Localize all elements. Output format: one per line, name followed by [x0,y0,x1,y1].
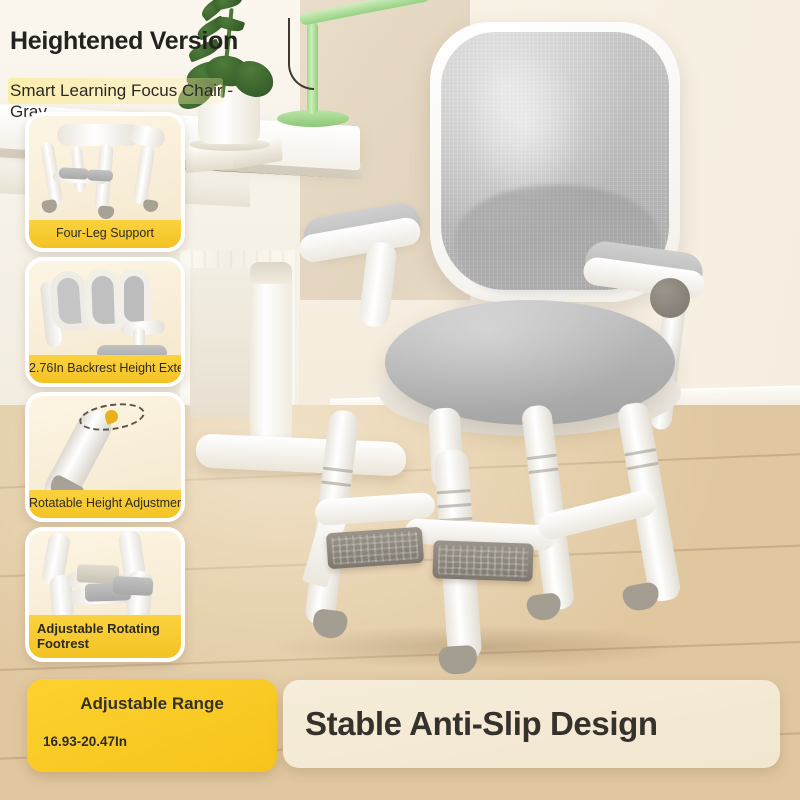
adjustable-range-title: Adjustable Range [27,694,277,714]
main-chair-product [255,10,725,690]
product-marketing-image: Heightened Version Smart Learning Focus … [0,0,800,800]
adjustable-range-banner: Adjustable Range 16.93-20.47In [27,679,277,772]
headline-banner: Stable Anti-Slip Design [283,680,780,768]
chair-foot-cap [438,645,478,676]
chair-foot-cap [621,581,661,613]
feature-card-label: 2.76In Backrest Height Extension [29,355,181,383]
chair-legs-icon: Four-Leg Support [29,116,181,248]
feature-card-label: Adjustable Rotating Footrest [29,615,181,658]
backrest-highlight [465,50,585,200]
chair-armrest-left-post [358,240,398,328]
feature-card-label: Rotatable Height Adjustment [29,490,181,518]
feature-card-backrest-extension[interactable]: 2.76In Backrest Height Extension [25,257,185,387]
feature-card-label: Four-Leg Support [29,220,181,248]
feature-card-rotating-footrest[interactable]: Adjustable Rotating Footrest [25,527,185,662]
footrest-pad-right [432,540,533,581]
page-title: Heightened Version [10,27,238,56]
rotating-tube-icon: Rotatable Height Adjustment [29,396,181,518]
footrest-icon: Adjustable Rotating Footrest [29,531,181,658]
chair-foot-cap [526,592,563,622]
feature-card-rotatable-height[interactable]: Rotatable Height Adjustment [25,392,185,522]
feature-card-four-leg-support[interactable]: Four-Leg Support [25,112,185,252]
backrest-extension-icon: 2.76In Backrest Height Extension [29,261,181,383]
chair-pivot-knob [650,278,690,318]
headline-text: Stable Anti-Slip Design [305,705,658,743]
footrest-pad-left [326,527,424,570]
adjustable-range-value: 16.93-20.47In [43,734,127,749]
chair-foot-cap [311,608,348,640]
